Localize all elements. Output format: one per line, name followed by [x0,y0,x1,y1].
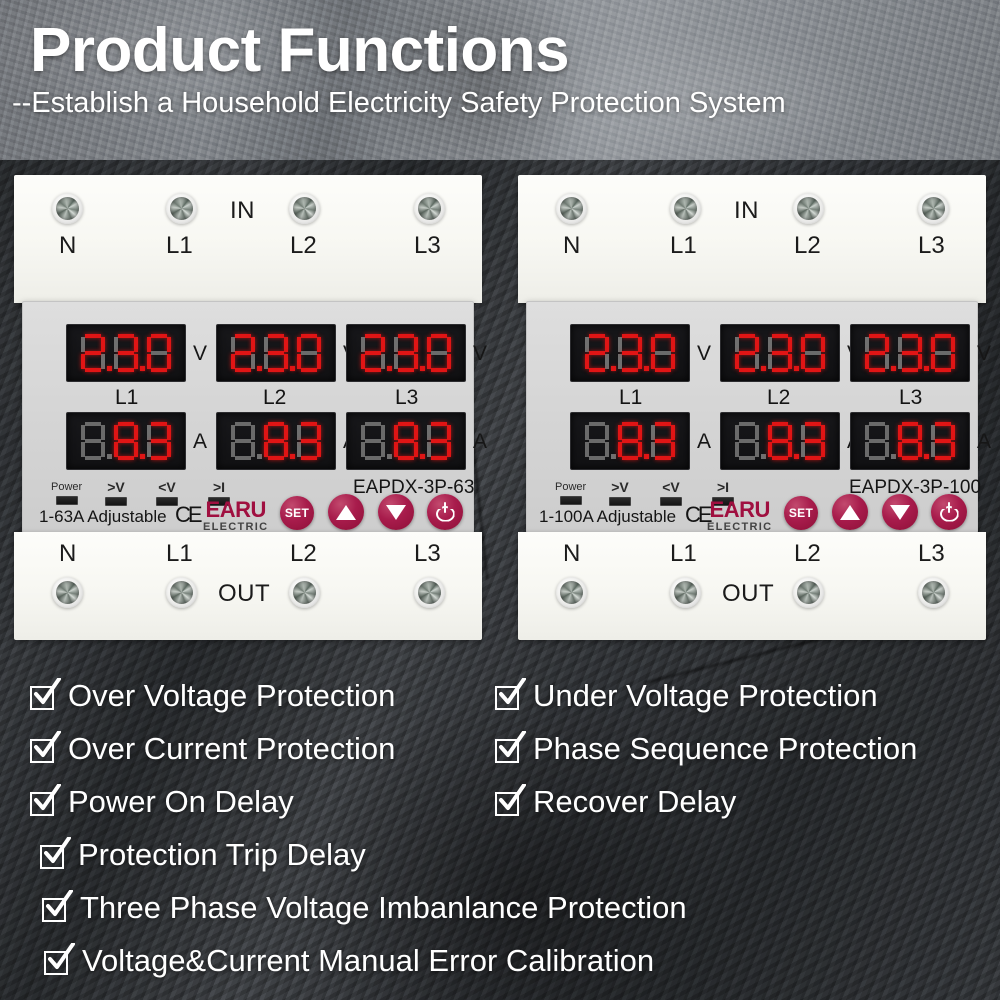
checkbox-checked-icon [30,736,56,762]
input-terminal-label-n: N [563,232,580,260]
current-unit-l3: A [473,430,487,454]
digit [264,334,288,372]
led-indicator-undervoltage: <V [660,480,682,506]
input-label: IN [230,197,255,225]
led-label-power: Power [51,482,82,493]
current-unit-l1: A [193,430,207,454]
triangle-down-icon [890,505,910,520]
checkbox-checked-icon [30,683,56,709]
led-indicator-overvoltage: >V [105,480,127,506]
led-label-undervoltage: <V [156,480,178,494]
output-screw-l1[interactable] [166,577,197,608]
led-label-overvoltage: >V [609,480,631,494]
output-screw-l2[interactable] [793,577,824,608]
digit [801,334,825,372]
digit [231,334,255,372]
feature-item: Protection Trip Delay [40,837,366,873]
seven-segment-group [735,334,825,372]
current-unit-l1: A [697,430,711,454]
input-terminal-label-l3: L3 [414,232,441,260]
control-panel-right: V V V [526,301,978,533]
led-lamp-overvoltage [609,497,631,506]
output-terminal-label-l2: L2 [290,540,317,568]
device-right: IN N L1 L2 L3 V [518,175,986,640]
digit [81,334,105,372]
digit [394,422,418,460]
output-screw-n[interactable] [52,577,83,608]
seven-segment-group [361,334,451,372]
digit [361,422,385,460]
led-label-overcurrent: >I [208,480,230,494]
digit [394,334,418,372]
digit [651,334,675,372]
digit [427,422,451,460]
output-screw-n[interactable] [556,577,587,608]
input-terminal-label-l3: L3 [918,232,945,260]
digit [427,334,451,372]
output-screw-l3[interactable] [918,577,949,608]
phase-label-l3: L3 [395,386,418,410]
brand-name: EARU [707,500,772,521]
seven-segment-group [81,422,171,460]
power-icon [940,503,959,522]
input-screw-n[interactable] [556,193,587,224]
output-screw-l3[interactable] [414,577,445,608]
phase-label-l2: L2 [263,386,286,410]
input-screw-l2[interactable] [793,193,824,224]
feature-label: Power On Delay [68,784,294,820]
digit [114,334,138,372]
feature-label: Over Voltage Protection [68,678,395,714]
digit [361,334,385,372]
output-terminal-block-left: N L1 L2 L3 OUT [14,532,482,640]
checkbox-checked-icon [495,789,521,815]
seven-segment-group [585,422,675,460]
input-screw-l1[interactable] [670,193,701,224]
seven-segment-group [735,422,825,460]
seven-segment-group [231,334,321,372]
brand-logo-left: EARU ELECTRIC [203,500,268,533]
input-terminal-label-l2: L2 [290,232,317,260]
set-button-right[interactable]: SET [784,496,818,530]
feature-label: Phase Sequence Protection [533,731,917,767]
digit [585,334,609,372]
ce-mark-icon: CE [685,502,710,528]
voltage-display-l1 [66,324,186,382]
led-label-overvoltage: >V [105,480,127,494]
ce-mark-icon: CE [175,502,200,528]
input-terminal-label-l2: L2 [794,232,821,260]
output-label: OUT [722,580,774,608]
seven-segment-group [81,334,171,372]
device-left: IN N L1 L2 L3 V [14,175,482,640]
output-screw-l2[interactable] [289,577,320,608]
output-terminal-label-l3: L3 [918,540,945,568]
phase-label-l1: L1 [115,386,138,410]
output-terminal-label-l3: L3 [414,540,441,568]
voltage-display-l2 [216,324,336,382]
digit [801,422,825,460]
digit [651,422,675,460]
voltage-unit-l1: V [193,342,207,366]
digit [865,422,889,460]
digit [297,334,321,372]
checkbox-checked-icon [30,789,56,815]
seven-segment-group [865,334,955,372]
checkbox-checked-icon [44,948,70,974]
input-screw-l3[interactable] [414,193,445,224]
digit [618,422,642,460]
digit [147,422,171,460]
feature-label: Voltage&Current Manual Error Calibration [82,943,654,979]
led-indicator-power: Power [51,482,82,505]
input-screw-l2[interactable] [289,193,320,224]
feature-item: Voltage&Current Manual Error Calibration [44,943,654,979]
current-display-l2 [216,412,336,470]
digit [898,422,922,460]
digit [585,422,609,460]
current-unit-l3: A [977,430,991,454]
brand-logo-right: EARU ELECTRIC [707,500,772,533]
led-lamp-undervoltage [660,497,682,506]
up-button-right[interactable] [832,494,868,530]
voltage-unit-l3: V [473,342,487,366]
current-display-l3 [346,412,466,470]
power-button-right[interactable] [931,494,967,530]
digit [768,422,792,460]
input-screw-n[interactable] [52,193,83,224]
page-subtitle: --Establish a Household Electricity Safe… [0,87,1000,120]
current-display-l1 [66,412,186,470]
current-display-l2 [720,412,840,470]
digit [147,334,171,372]
feature-label: Three Phase Voltage Imbanlance Protectio… [80,890,687,926]
triangle-down-icon [386,505,406,520]
feature-item: Phase Sequence Protection [495,731,917,767]
digit [735,334,759,372]
phase-label-l1: L1 [619,386,642,410]
input-terminal-label-n: N [59,232,76,260]
led-indicator-overvoltage: >V [609,480,631,506]
output-terminal-label-l1: L1 [670,540,697,568]
checkbox-checked-icon [40,842,66,868]
current-display-l1 [570,412,690,470]
feature-item: Three Phase Voltage Imbanlance Protectio… [42,890,687,926]
digit [81,422,105,460]
model-number-left: EAPDX-3P-63 [353,477,474,499]
triangle-up-icon [840,505,860,520]
current-rating-left: 1-63A Adjustable [39,507,167,527]
digit [898,334,922,372]
feature-label: Over Current Protection [68,731,395,767]
checkbox-checked-icon [495,683,521,709]
led-indicator-power: Power [555,482,586,505]
voltage-display-l2 [720,324,840,382]
down-button-left[interactable] [378,494,414,530]
phase-label-l2: L2 [767,386,790,410]
input-label: IN [734,197,759,225]
led-label-undervoltage: <V [660,480,682,494]
digit [931,422,955,460]
checkbox-checked-icon [495,736,521,762]
led-lamp-power [56,496,78,505]
output-terminal-label-n: N [563,540,580,568]
control-panel-left: V V V [22,301,474,533]
input-terminal-label-l1: L1 [166,232,193,260]
voltage-unit-l1: V [697,342,711,366]
led-lamp-overvoltage [105,497,127,506]
current-display-l3 [850,412,970,470]
power-icon [436,503,455,522]
digit [618,334,642,372]
digit [264,422,288,460]
feature-item: Recover Delay [495,784,736,820]
model-number-right: EAPDX-3P-100 [849,477,981,499]
feature-label: Protection Trip Delay [78,837,366,873]
output-terminal-label-n: N [59,540,76,568]
digit [114,422,138,460]
header: Product Functions --Establish a Househol… [0,0,1000,120]
digit [865,334,889,372]
seven-segment-group [865,422,955,460]
input-terminal-label-l1: L1 [670,232,697,260]
up-button-left[interactable] [328,494,364,530]
digit [735,422,759,460]
set-button-label: SET [789,506,813,520]
set-button-label: SET [285,506,309,520]
digit [931,334,955,372]
led-label-power: Power [555,482,586,493]
digit [297,422,321,460]
output-terminal-label-l2: L2 [794,540,821,568]
input-terminal-block-right: IN N L1 L2 L3 [518,175,986,303]
led-label-overcurrent: >I [712,480,734,494]
output-screw-l1[interactable] [670,577,701,608]
voltage-display-l3 [346,324,466,382]
led-lamp-power [560,496,582,505]
feature-item: Under Voltage Protection [495,678,878,714]
input-screw-l3[interactable] [918,193,949,224]
phase-label-l3: L3 [899,386,922,410]
voltage-display-l1 [570,324,690,382]
triangle-up-icon [336,505,356,520]
seven-segment-group [361,422,451,460]
power-button-left[interactable] [427,494,463,530]
digit [231,422,255,460]
brand-name: EARU [203,500,268,521]
output-terminal-label-l1: L1 [166,540,193,568]
set-button-left[interactable]: SET [280,496,314,530]
input-screw-l1[interactable] [166,193,197,224]
current-rating-right: 1-100A Adjustable [539,507,676,527]
voltage-display-l3 [850,324,970,382]
feature-item: Over Current Protection [30,731,395,767]
input-terminal-block-left: IN N L1 L2 L3 [14,175,482,303]
feature-item: Power On Delay [30,784,294,820]
seven-segment-group [231,422,321,460]
feature-label: Recover Delay [533,784,736,820]
feature-label: Under Voltage Protection [533,678,878,714]
checkbox-checked-icon [42,895,68,921]
output-terminal-block-right: N L1 L2 L3 OUT [518,532,986,640]
voltage-unit-l3: V [977,342,991,366]
digit [768,334,792,372]
seven-segment-group [585,334,675,372]
feature-item: Over Voltage Protection [30,678,395,714]
down-button-right[interactable] [882,494,918,530]
page-title: Product Functions [0,18,1000,83]
output-label: OUT [218,580,270,608]
